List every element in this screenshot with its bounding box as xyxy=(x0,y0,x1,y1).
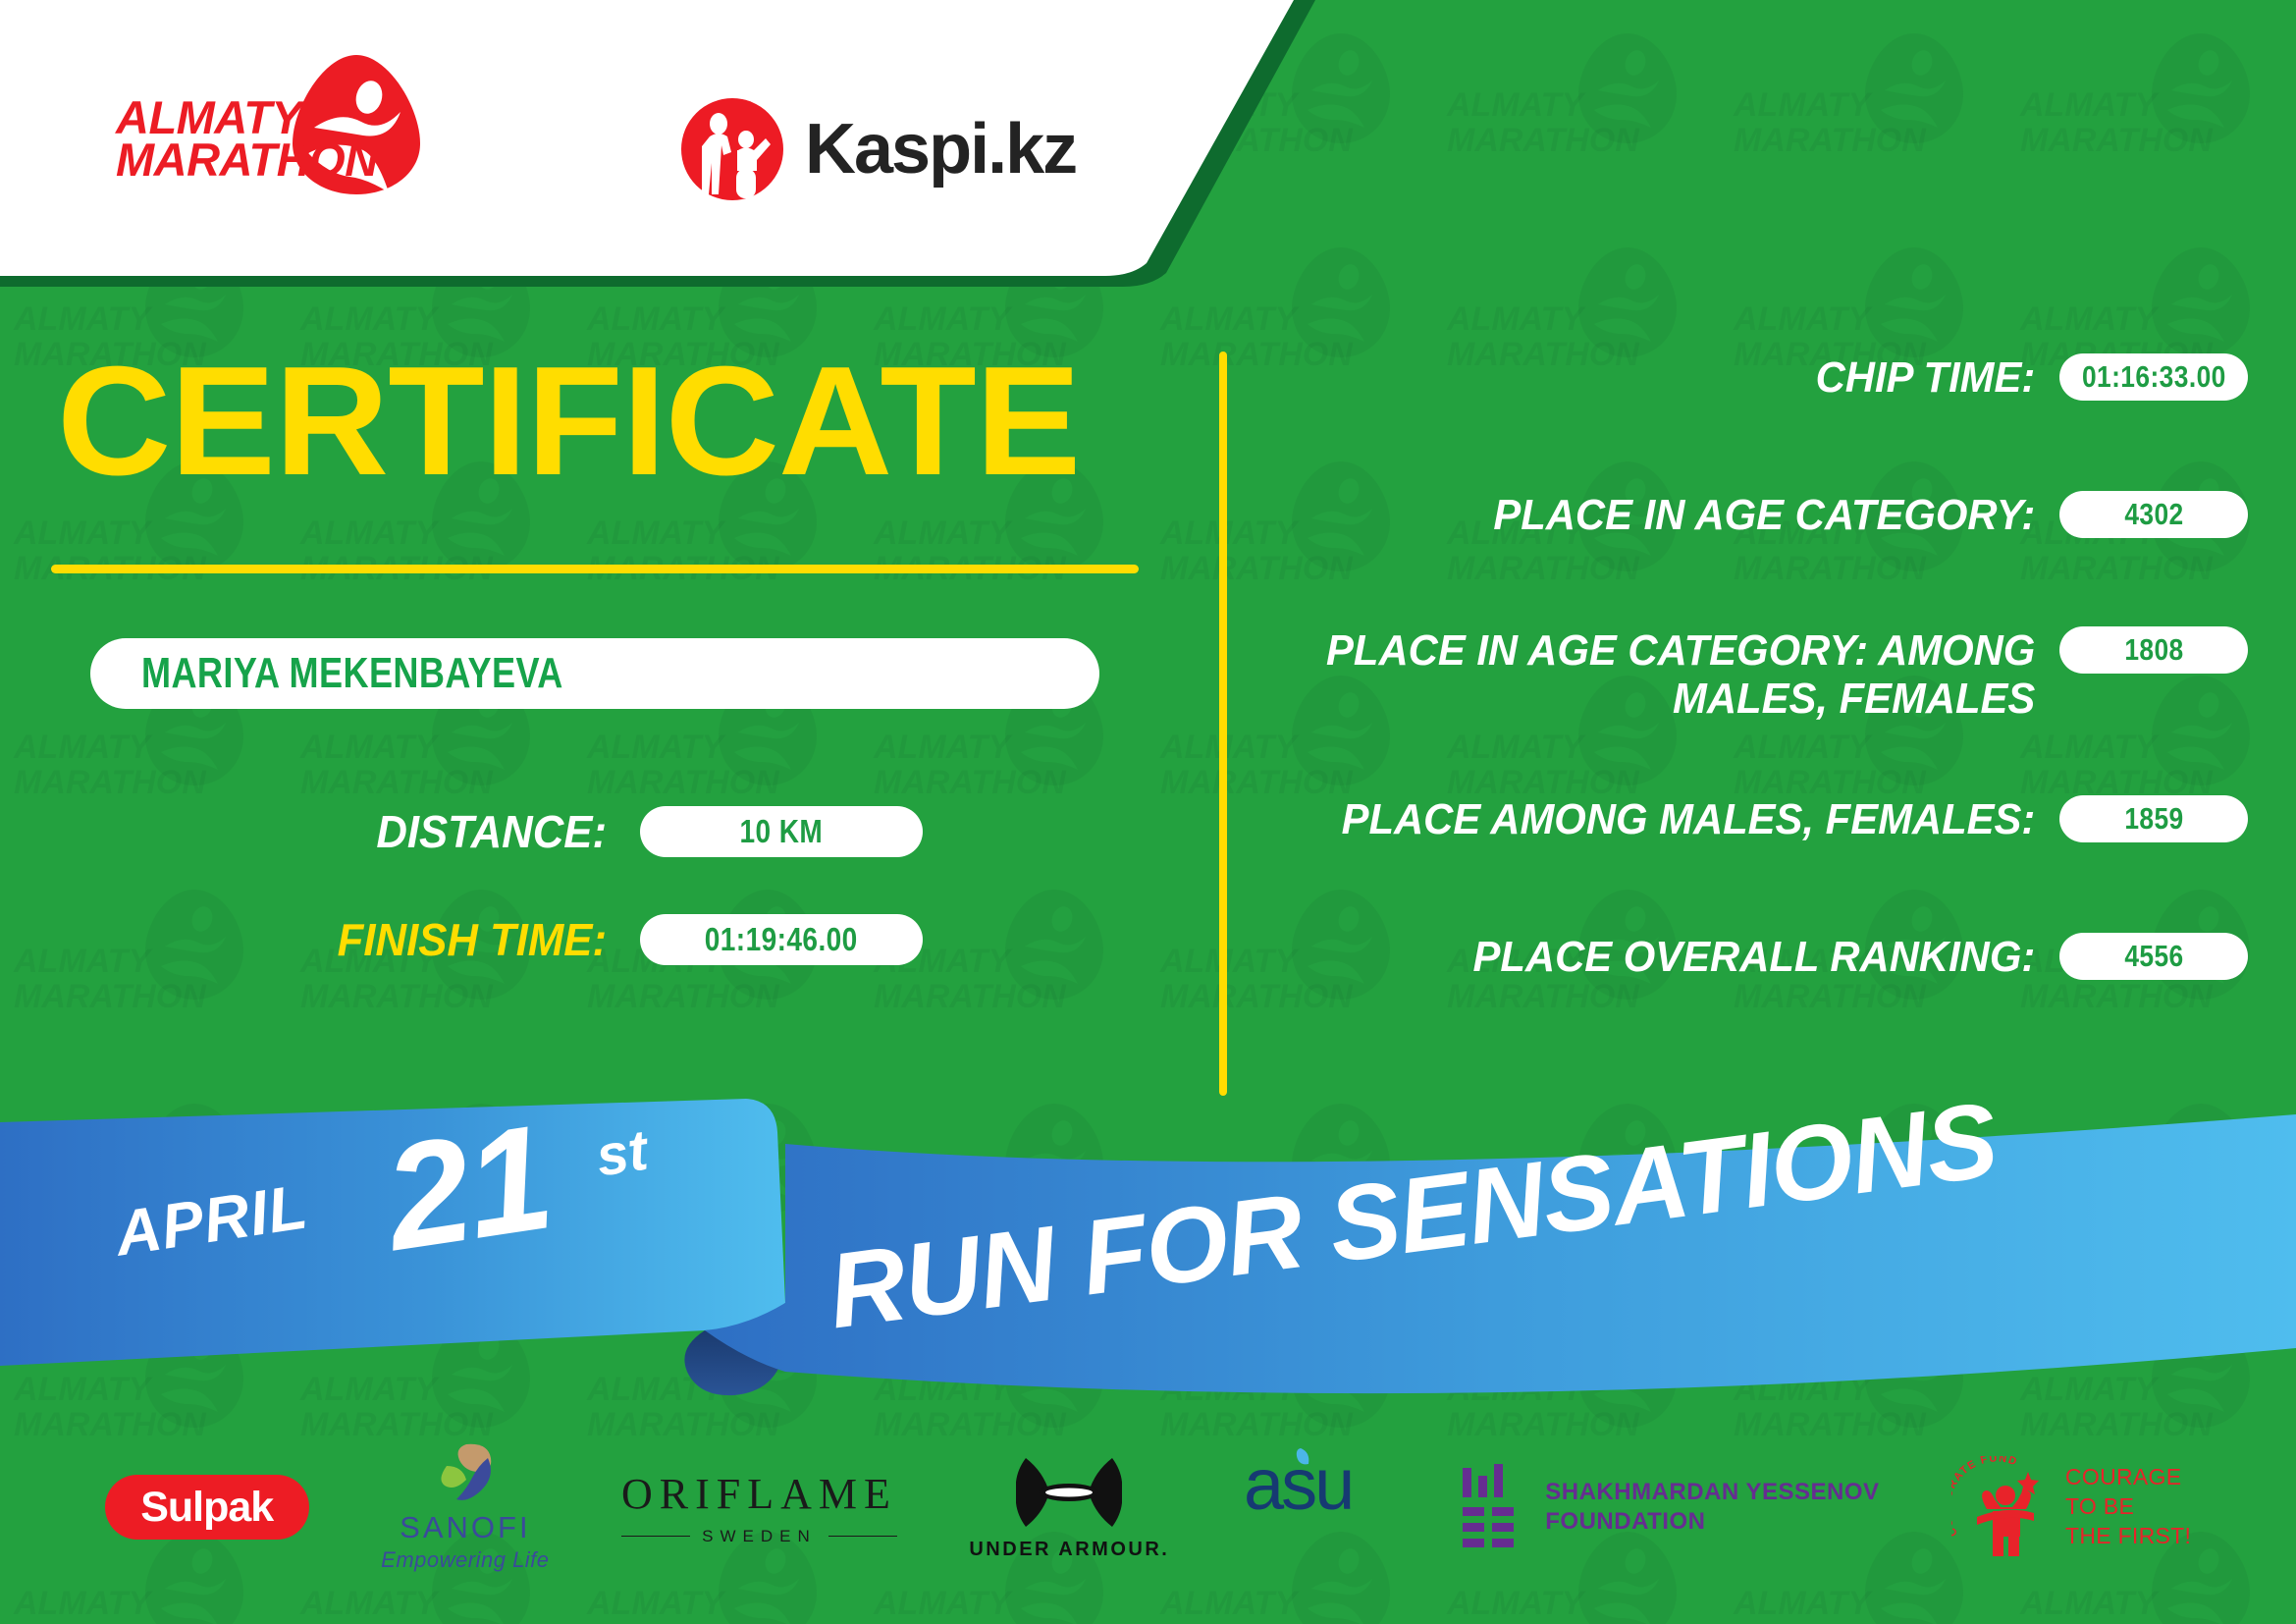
courage-label-line2: TO BE xyxy=(2065,1492,2191,1522)
result-row-place-among-gender: PLACE AMONG MALES, FEMALES: 1859 xyxy=(1266,795,2248,843)
sponsor-sanofi: SANOFI Empowering Life xyxy=(381,1438,549,1576)
result-label: PLACE AMONG MALES, FEMALES: xyxy=(1306,795,2059,843)
result-value-pill: 4302 xyxy=(2059,491,2248,538)
sponsor-bar: Sulpak SANOFI Empowering Life ORIFLAME S… xyxy=(0,1414,2296,1600)
sanofi-label: SANOFI xyxy=(400,1510,530,1545)
sponsor-yessenov-foundation: SHAKHMARDAN YESSENOV FOUNDATION xyxy=(1459,1438,1879,1576)
result-value-pill: 1808 xyxy=(2059,626,2248,674)
certificate-title: CERTIFICATE xyxy=(57,344,1080,499)
result-row-place-age-category-gender: PLACE IN AGE CATEGORY: AMONG MALES, FEMA… xyxy=(1266,626,2248,724)
oriflame-sub-row: SWEDEN xyxy=(621,1527,897,1546)
almaty-marathon-wordmark: ALMATY MARATHON xyxy=(116,96,389,181)
oriflame-rule-right xyxy=(828,1536,897,1538)
certificate-canvas: ALMATY MARATHON ALMATY MARATHON xyxy=(0,0,2296,1624)
oriflame-label: ORIFLAME xyxy=(621,1469,897,1519)
oriflame-tagline: SWEDEN xyxy=(702,1527,817,1546)
almaty-logo-line2: MARATHON xyxy=(116,138,389,181)
result-value-pill: 4556 xyxy=(2059,933,2248,980)
kaspi-people-circle-icon xyxy=(677,94,787,204)
yessenov-label: SHAKHMARDAN YESSENOV FOUNDATION xyxy=(1545,1478,1879,1537)
result-row-overall-ranking: PLACE OVERALL RANKING: 4556 xyxy=(1266,933,2248,981)
courage-label-line3: THE FIRST! xyxy=(2065,1522,2191,1551)
result-value: 01:16:33.00 xyxy=(2082,359,2226,395)
results-column: CHIP TIME: 01:16:33.00 PLACE IN AGE CATE… xyxy=(1266,353,2248,1129)
finish-time-label: FINISH TIME: xyxy=(234,913,607,966)
kaspi-logo: Kaspi.kz xyxy=(677,94,1076,204)
courage-to-be-first-logo-icon: CORPORATE FUND xyxy=(1951,1456,2057,1558)
courage-label-line1: COURAGE xyxy=(2065,1463,2191,1492)
result-label: PLACE IN AGE CATEGORY: xyxy=(1306,491,2059,539)
column-divider xyxy=(1219,352,1227,1096)
yessenov-label-line1: SHAKHMARDAN YESSENOV xyxy=(1545,1478,1879,1507)
header-logos: ALMATY MARATHON Kaspi.kz xyxy=(0,0,1158,275)
asu-logo-icon: asu xyxy=(1242,1438,1387,1523)
sanofi-tagline: Empowering Life xyxy=(381,1547,549,1573)
participant-name-field: MARIYA MEKENBAYEVA xyxy=(90,638,1099,709)
ribbon-left-segment xyxy=(0,1099,785,1366)
sponsor-asu: asu xyxy=(1242,1438,1387,1576)
sanofi-logo-icon xyxy=(431,1442,500,1507)
sponsor-oriflame: ORIFLAME SWEDEN xyxy=(621,1438,897,1576)
result-row-chip-time: CHIP TIME: 01:16:33.00 xyxy=(1266,353,2248,402)
result-label: PLACE IN AGE CATEGORY: AMONG MALES, FEMA… xyxy=(1306,626,2059,724)
sponsor-sulpak: Sulpak xyxy=(105,1438,309,1576)
almaty-logo-line1: ALMATY xyxy=(116,96,389,138)
result-value: 1808 xyxy=(2124,632,2183,668)
finish-time-value-pill: 01:19:46.00 xyxy=(640,914,923,965)
courage-label: COURAGE TO BE THE FIRST! xyxy=(2065,1463,2191,1551)
result-label: PLACE OVERALL RANKING: xyxy=(1306,933,2059,981)
distance-row: DISTANCE: 10 KM xyxy=(0,805,923,858)
under-armour-logo-icon xyxy=(1016,1454,1122,1531)
participant-name: MARIYA MEKENBAYEVA xyxy=(141,649,563,698)
left-column: CERTIFICATE MARIYA MEKENBAYEVA DISTANCE:… xyxy=(0,324,1217,1129)
ribbon-right-segment xyxy=(705,1114,2296,1393)
distance-value-pill: 10 KM xyxy=(640,806,923,857)
finish-time-value: 01:19:46.00 xyxy=(705,921,858,958)
finish-time-row: FINISH TIME: 01:19:46.00 xyxy=(0,913,923,966)
almaty-marathon-logo: ALMATY MARATHON xyxy=(116,51,430,198)
result-value: 4556 xyxy=(2124,939,2183,974)
sulpak-label: Sulpak xyxy=(140,1484,273,1532)
result-value: 1859 xyxy=(2124,801,2183,837)
sulpak-logo: Sulpak xyxy=(105,1475,309,1540)
oriflame-rule-left xyxy=(621,1536,690,1538)
sponsor-courage-to-be-first: CORPORATE FUND COURAGE TO BE THE FIRST! xyxy=(1951,1438,2191,1576)
result-row-place-age-category: PLACE IN AGE CATEGORY: 4302 xyxy=(1266,491,2248,539)
yessenov-foundation-logo-icon xyxy=(1459,1464,1523,1550)
distance-label: DISTANCE: xyxy=(234,805,607,858)
under-armour-label: UNDER ARMOUR. xyxy=(969,1539,1169,1561)
result-value-pill: 01:16:33.00 xyxy=(2059,353,2248,401)
sponsor-under-armour: UNDER ARMOUR. xyxy=(969,1438,1169,1576)
ribbon-banner xyxy=(0,1085,2296,1429)
distance-value: 10 KM xyxy=(740,813,824,850)
result-value: 4302 xyxy=(2124,497,2183,532)
kaspi-wordmark: Kaspi.kz xyxy=(805,109,1076,189)
result-value-pill: 1859 xyxy=(2059,795,2248,842)
result-label: CHIP TIME: xyxy=(1306,353,2059,402)
title-underline-rule xyxy=(51,565,1139,573)
yessenov-label-line2: FOUNDATION xyxy=(1545,1507,1879,1537)
